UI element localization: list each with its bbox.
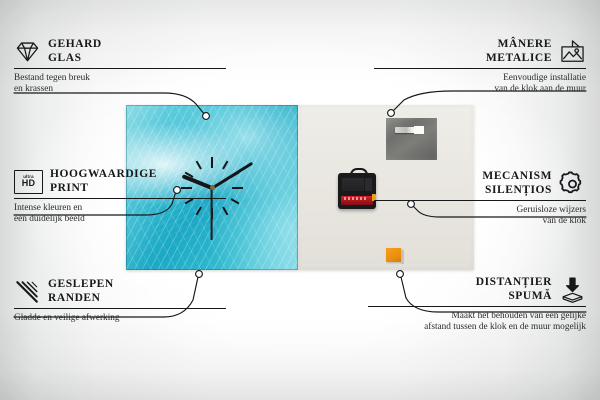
callout-title: MÂNERE METALICE: [486, 38, 552, 65]
callout-description: Geruisloze wijzers van de klok: [374, 205, 586, 228]
metal-hanger-plate: [386, 118, 437, 160]
callout-head: DISTANȚIER SPUMĂ: [368, 276, 586, 303]
callout-description: Intense kleuren en een duidelijk beeld: [14, 203, 226, 226]
callout-head: ultra HD HOOGWAARDIGE PRINT: [14, 168, 226, 195]
callout-rule: [374, 68, 586, 69]
infographic-canvas: GEHARD GLAS Bestand tegen breuk en krass…: [0, 0, 600, 400]
callout-gehard-glas[interactable]: GEHARD GLAS Bestand tegen breuk en krass…: [14, 38, 226, 96]
callout-rule: [374, 200, 586, 201]
ultra-hd-icon-main-text: HD: [22, 179, 35, 188]
spacer-press-icon: [559, 276, 586, 303]
mechanism-hook: [350, 168, 368, 178]
picture-frame-icon: [559, 38, 586, 65]
callout-distantier-spuma[interactable]: DISTANȚIER SPUMĂ Maakt het behouden van …: [368, 276, 586, 334]
ultra-hd-icon: ultra HD: [14, 170, 43, 194]
diamond-icon: [14, 38, 41, 65]
callout-title: MECANISM SILENȚIOS: [482, 170, 552, 197]
callout-rule: [14, 308, 226, 309]
callout-description: Eenvoudige installatie van de klok aan d…: [374, 73, 586, 96]
callout-rule: [14, 68, 226, 69]
hanger-keyhole-slot: [395, 127, 423, 133]
callout-head: MÂNERE METALICE: [374, 38, 586, 65]
aa-battery: [341, 196, 373, 205]
foam-spacer-pad: [386, 248, 401, 262]
callout-rule: [14, 198, 226, 199]
callout-title: GESLEPEN RANDEN: [48, 278, 114, 305]
callout-description: Bestand tegen breuk en krassen: [14, 73, 226, 96]
callout-title: HOOGWAARDIGE PRINT: [50, 168, 157, 195]
callout-head: GESLEPEN RANDEN: [14, 278, 226, 305]
callout-mecanism-silentios[interactable]: MECANISM SILENȚIOS Geruisloze wijzers va…: [374, 170, 586, 228]
callout-description: Maakt het behouden van een gelijke afsta…: [368, 311, 586, 334]
mechanism-housing-detail-2: [365, 178, 372, 191]
quartz-mechanism: [338, 173, 376, 209]
callout-hoogwaardige-print[interactable]: ultra HD HOOGWAARDIGE PRINT Intense kleu…: [14, 168, 226, 226]
callout-rule: [368, 306, 586, 307]
bevelled-edge-icon: [14, 278, 41, 305]
callout-head: MECANISM SILENȚIOS: [374, 170, 586, 197]
callout-head: GEHARD GLAS: [14, 38, 226, 65]
battery-label-stripes: [344, 197, 366, 200]
gear-icon: [559, 170, 586, 197]
callout-title: GEHARD GLAS: [48, 38, 102, 65]
callout-description: Gladde en veilige afwerking: [14, 313, 226, 325]
callout-title: DISTANȚIER SPUMĂ: [476, 276, 552, 303]
callout-geslepen-randen[interactable]: GESLEPEN RANDEN Gladde en veilige afwerk…: [14, 278, 226, 324]
callout-manere-metalice[interactable]: MÂNERE METALICE Eenvoudige installatie v…: [374, 38, 586, 96]
mechanism-housing-detail: [342, 178, 364, 191]
